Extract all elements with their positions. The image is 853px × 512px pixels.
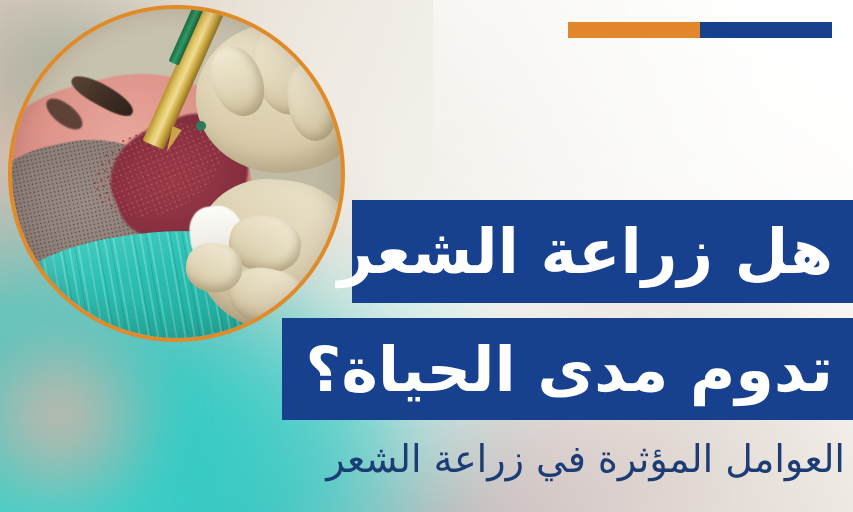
circular-photo-content: [12, 9, 341, 338]
accent-bar-orange: [568, 22, 700, 38]
headline-line-1: هل زراعة الشعر: [352, 200, 853, 303]
headline-line-2: تدوم مدى الحياة؟: [282, 318, 853, 420]
circular-photo: [8, 5, 345, 342]
subtitle-text: العوامل المؤثرة في زراعة الشعر: [0, 437, 845, 481]
accent-bar-blue: [700, 22, 832, 38]
accent-bar-group: [568, 22, 832, 38]
thumbnail-canvas: هل زراعة الشعر تدوم مدى الحياة؟ العوامل …: [0, 0, 853, 512]
